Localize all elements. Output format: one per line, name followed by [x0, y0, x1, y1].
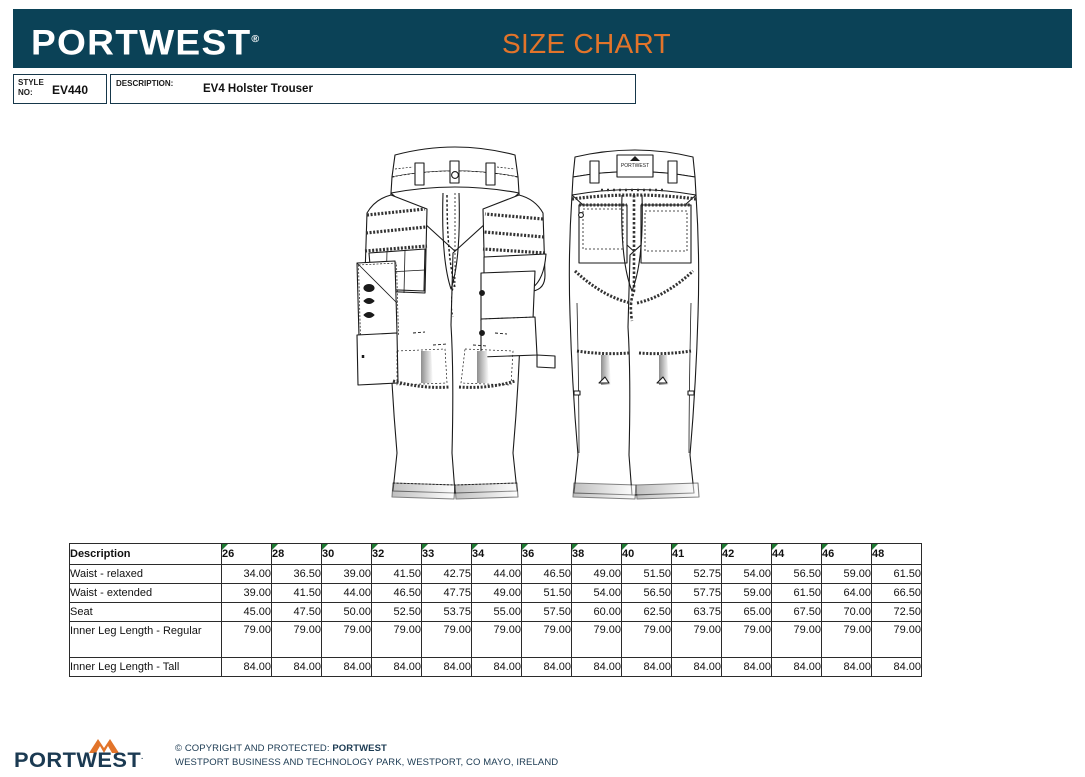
- cell-value: 84.00: [272, 658, 322, 677]
- cell-value: 84.00: [222, 658, 272, 677]
- cell-value: 61.50: [772, 584, 822, 603]
- cell-value: 79.00: [322, 622, 372, 658]
- table-header: Description 26 28 30 32 33 34 36 38 40 4…: [70, 544, 922, 565]
- comment-marker-icon: [572, 544, 578, 550]
- comment-marker-icon: [372, 544, 378, 550]
- cell-value: 51.50: [622, 565, 672, 584]
- description-label: DESCRIPTION:: [116, 79, 173, 88]
- cell-value: 79.00: [822, 622, 872, 658]
- style-number-label: STYLENO:: [18, 78, 44, 97]
- cell-value: 49.00: [572, 565, 622, 584]
- cell-value: 59.00: [822, 565, 872, 584]
- cell-value: 41.50: [372, 565, 422, 584]
- column-header-size-48: 48: [872, 544, 922, 565]
- size-chart-table: Description 26 28 30 32 33 34 36 38 40 4…: [69, 543, 922, 677]
- column-header-description: Description: [70, 544, 222, 565]
- column-header-size-46: 46: [822, 544, 872, 565]
- cell-value: 70.00: [822, 603, 872, 622]
- column-header-size-38: 38: [572, 544, 622, 565]
- cell-value: 79.00: [522, 622, 572, 658]
- cell-value: 52.75: [672, 565, 722, 584]
- table-row: Waist - extended 39.00 41.50 44.00 46.50…: [70, 584, 922, 603]
- cell-value: 34.00: [222, 565, 272, 584]
- cell-value: 47.75: [422, 584, 472, 603]
- cell-value: 60.00: [572, 603, 622, 622]
- column-header-size-42: 42: [722, 544, 772, 565]
- table-row: Inner Leg Length - Tall 84.00 84.00 84.0…: [70, 658, 922, 677]
- cell-value: 55.00: [472, 603, 522, 622]
- column-header-size-32: 32: [372, 544, 422, 565]
- cell-value: 65.00: [722, 603, 772, 622]
- cell-value: 79.00: [772, 622, 822, 658]
- cell-value: 42.75: [422, 565, 472, 584]
- cell-value: 79.00: [722, 622, 772, 658]
- cell-value: 84.00: [772, 658, 822, 677]
- portwest-logo-footer: PORTWEST.: [14, 737, 164, 771]
- row-label: Seat: [70, 603, 222, 622]
- column-header-size-30: 30: [322, 544, 372, 565]
- cell-value: 84.00: [422, 658, 472, 677]
- cell-value: 54.00: [572, 584, 622, 603]
- front-view: [357, 147, 555, 499]
- cell-value: 79.00: [372, 622, 422, 658]
- cell-value: 57.75: [672, 584, 722, 603]
- column-header-size-28: 28: [272, 544, 322, 565]
- comment-marker-icon: [522, 544, 528, 550]
- comment-marker-icon: [722, 544, 728, 550]
- style-number-value: EV440: [52, 83, 88, 97]
- comment-marker-icon: [322, 544, 328, 550]
- portwest-logo-header: PORTWEST®: [31, 22, 259, 61]
- cell-value: 64.00: [822, 584, 872, 603]
- column-header-size-26: 26: [222, 544, 272, 565]
- row-label: Inner Leg Length - Tall: [70, 658, 222, 677]
- cell-value: 54.00: [722, 565, 772, 584]
- cell-value: 79.00: [272, 622, 322, 658]
- cell-value: 62.50: [622, 603, 672, 622]
- comment-marker-icon: [822, 544, 828, 550]
- registered-trademark-icon: .: [141, 754, 143, 761]
- cell-value: 47.50: [272, 603, 322, 622]
- cell-value: 59.00: [722, 584, 772, 603]
- cell-value: 84.00: [822, 658, 872, 677]
- cell-value: 84.00: [372, 658, 422, 677]
- brand-wordmark: PORTWEST: [31, 24, 251, 63]
- cell-value: 79.00: [572, 622, 622, 658]
- footer-brand-wordmark: PORTWEST.: [14, 749, 144, 773]
- cell-value: 44.00: [472, 565, 522, 584]
- comment-marker-icon: [622, 544, 628, 550]
- comment-marker-icon: [872, 544, 878, 550]
- table-row: Inner Leg Length - Regular 79.00 79.00 7…: [70, 622, 922, 658]
- page-title: SIZE CHART: [502, 28, 671, 60]
- comment-marker-icon: [772, 544, 778, 550]
- column-header-size-44: 44: [772, 544, 822, 565]
- comment-marker-icon: [472, 544, 478, 550]
- comment-marker-icon: [222, 544, 228, 550]
- comment-marker-icon: [272, 544, 278, 550]
- cell-value: 51.50: [522, 584, 572, 603]
- cell-value: 52.50: [372, 603, 422, 622]
- cell-value: 84.00: [872, 658, 922, 677]
- cell-value: 84.00: [472, 658, 522, 677]
- description-value: EV4 Holster Trouser: [203, 83, 313, 95]
- column-header-size-36: 36: [522, 544, 572, 565]
- cell-value: 84.00: [522, 658, 572, 677]
- cell-value: 63.75: [672, 603, 722, 622]
- table-row: Seat 45.00 47.50 50.00 52.50 53.75 55.00…: [70, 603, 922, 622]
- cell-value: 79.00: [872, 622, 922, 658]
- cell-value: 49.00: [472, 584, 522, 603]
- size-chart-table-container: Description 26 28 30 32 33 34 36 38 40 4…: [69, 543, 922, 677]
- row-label: Waist - extended: [70, 584, 222, 603]
- cell-value: 79.00: [472, 622, 522, 658]
- copyright-line-1: © COPYRIGHT AND PROTECTED: PORTWEST: [175, 742, 558, 756]
- column-header-size-34: 34: [472, 544, 522, 565]
- waistband-brand-label: PORTWEST: [621, 163, 649, 169]
- cell-value: 61.50: [872, 565, 922, 584]
- table-body: Waist - relaxed 34.00 36.50 39.00 41.50 …: [70, 565, 922, 677]
- style-number-box: STYLENO: EV440: [13, 74, 107, 104]
- cell-value: 79.00: [422, 622, 472, 658]
- cell-value: 57.50: [522, 603, 572, 622]
- cell-value: 39.00: [222, 584, 272, 603]
- cell-value: 66.50: [872, 584, 922, 603]
- cell-value: 84.00: [322, 658, 372, 677]
- cell-value: 53.75: [422, 603, 472, 622]
- column-header-size-40: 40: [622, 544, 672, 565]
- cell-value: 36.50: [272, 565, 322, 584]
- row-label: Inner Leg Length - Regular: [70, 622, 222, 658]
- cell-value: 72.50: [872, 603, 922, 622]
- table-row: Waist - relaxed 34.00 36.50 39.00 41.50 …: [70, 565, 922, 584]
- cell-value: 79.00: [672, 622, 722, 658]
- cell-value: 46.50: [522, 565, 572, 584]
- cell-value: 84.00: [722, 658, 772, 677]
- cell-value: 39.00: [322, 565, 372, 584]
- cell-value: 46.50: [372, 584, 422, 603]
- footer-copyright: © COPYRIGHT AND PROTECTED: PORTWEST WEST…: [175, 742, 558, 770]
- registered-trademark-icon: ®: [251, 34, 259, 45]
- cell-value: 67.50: [772, 603, 822, 622]
- cell-value: 84.00: [572, 658, 622, 677]
- description-box: DESCRIPTION: EV4 Holster Trouser: [110, 74, 636, 104]
- copyright-line-2: WESTPORT BUSINESS AND TECHNOLOGY PARK, W…: [175, 756, 558, 770]
- cell-value: 84.00: [672, 658, 722, 677]
- cell-value: 41.50: [272, 584, 322, 603]
- page-header-bar: PORTWEST® SIZE CHART: [13, 9, 1072, 68]
- cell-value: 56.50: [772, 565, 822, 584]
- back-view: PORTWEST: [569, 150, 699, 499]
- column-header-size-33: 33: [422, 544, 472, 565]
- cell-value: 79.00: [222, 622, 272, 658]
- column-header-size-41: 41: [672, 544, 722, 565]
- cell-value: 56.50: [622, 584, 672, 603]
- row-label: Waist - relaxed: [70, 565, 222, 584]
- table-header-row: Description 26 28 30 32 33 34 36 38 40 4…: [70, 544, 922, 565]
- cell-value: 79.00: [622, 622, 672, 658]
- cell-value: 44.00: [322, 584, 372, 603]
- product-technical-drawing: PORTWEST: [355, 133, 750, 533]
- cell-value: 84.00: [622, 658, 672, 677]
- comment-marker-icon: [422, 544, 428, 550]
- comment-marker-icon: [672, 544, 678, 550]
- cell-value: 50.00: [322, 603, 372, 622]
- cell-value: 45.00: [222, 603, 272, 622]
